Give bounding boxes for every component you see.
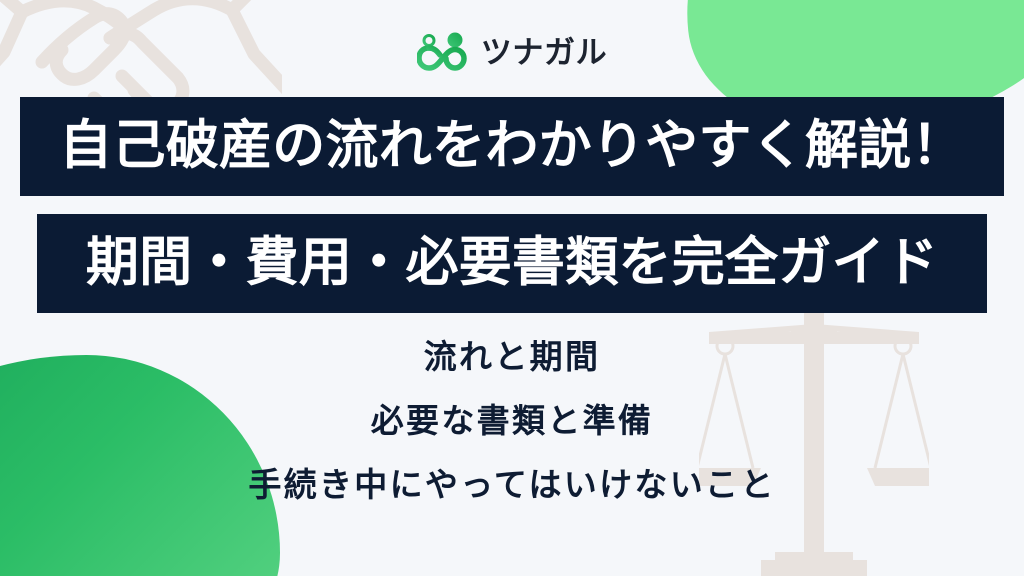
brand-logo-text: ツナガル xyxy=(481,37,607,68)
topic-list: 流れと期間 必要な書類と準備 手続き中にやってはいけないこと xyxy=(0,340,1024,501)
topic-item: 必要な書類と準備 xyxy=(0,404,1024,437)
headline-bar-secondary: 期間・費用・必要書類を完全ガイド xyxy=(37,214,987,313)
brand-logo: ツナガル xyxy=(0,32,1024,72)
slide-canvas: ツナガル 自己破産の流れをわかりやすく解説！ 期間・費用・必要書類を完全ガイド … xyxy=(0,0,1024,576)
topic-item: 手続き中にやってはいけないこと xyxy=(0,468,1024,501)
headline-line-2: 期間・費用・必要書類を完全ガイド xyxy=(86,237,938,290)
headline-bar-primary: 自己破産の流れをわかりやすく解説！ xyxy=(20,97,1004,196)
headline-line-1: 自己破産の流れをわかりやすく解説！ xyxy=(59,120,965,173)
topic-item: 流れと期間 xyxy=(0,340,1024,373)
tsunagaru-infinity-logo-icon xyxy=(417,32,471,72)
